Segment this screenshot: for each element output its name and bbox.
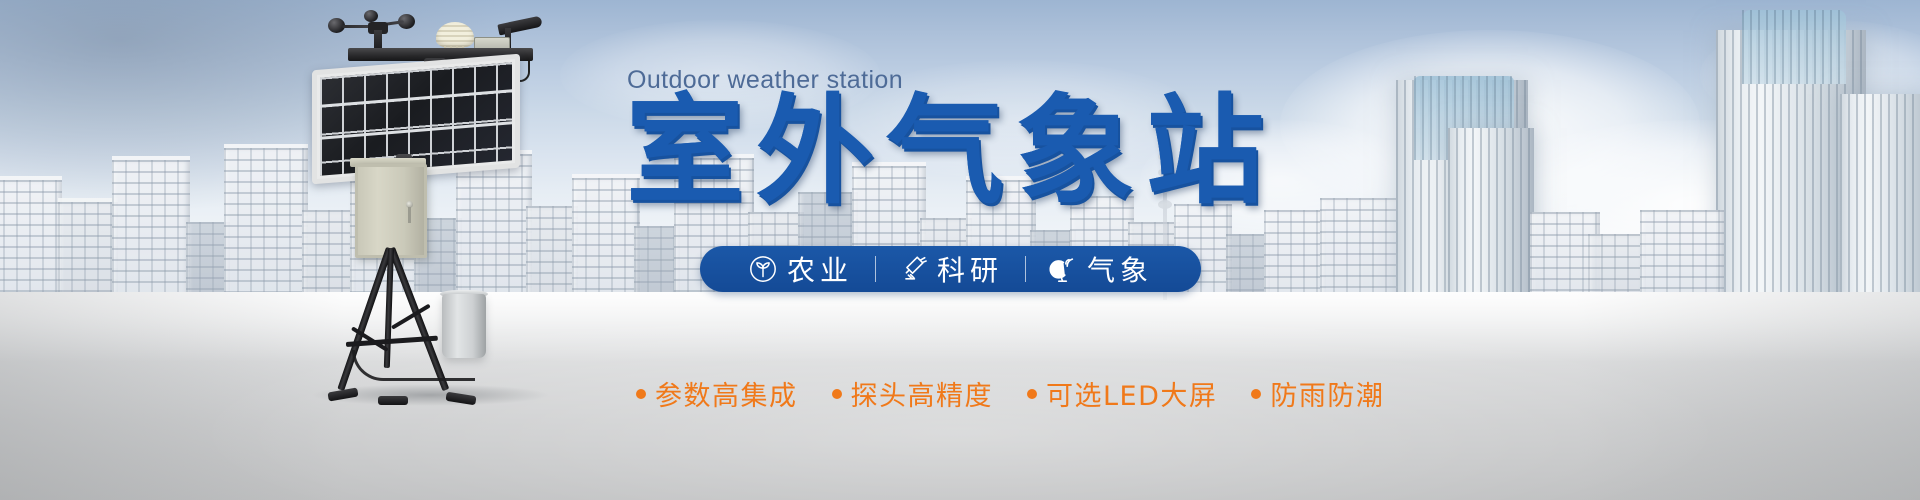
- feature-item: 参数高集成: [636, 374, 798, 413]
- feature-item: 可选LED大屏: [1027, 374, 1217, 413]
- banner-title: 室外气象站: [626, 92, 1276, 210]
- badge-meteorology-label: 气象: [1087, 249, 1153, 289]
- feature-item: 防雨防潮: [1251, 374, 1384, 413]
- feature-label: 探头高精度: [851, 374, 994, 413]
- badge-research[interactable]: 科研: [876, 249, 1025, 289]
- promo-banner: Outdoor weather station 室外气象站 农业: [0, 0, 1920, 500]
- badge-meteorology[interactable]: 气象: [1026, 249, 1175, 289]
- bullet-dot-icon: [1027, 389, 1037, 399]
- bullet-dot-icon: [832, 389, 842, 399]
- bullet-dot-icon: [1251, 389, 1261, 399]
- satellite-dish-icon: [1048, 254, 1078, 284]
- feature-label: 参数高集成: [655, 374, 798, 413]
- plant-leaf-icon: [748, 254, 778, 284]
- microscope-icon: [898, 254, 928, 284]
- feature-list: 参数高集成 探头高精度 可选LED大屏 防雨防潮: [636, 374, 1384, 413]
- feature-item: 探头高精度: [832, 374, 994, 413]
- badge-research-label: 科研: [937, 249, 1003, 289]
- banner-content: Outdoor weather station 室外气象站 农业: [0, 0, 1920, 500]
- badge-agriculture-label: 农业: [787, 249, 853, 289]
- category-badge-bar: 农业 科研: [700, 246, 1201, 292]
- badge-agriculture[interactable]: 农业: [726, 249, 875, 289]
- feature-label: 可选LED大屏: [1046, 374, 1217, 413]
- feature-label: 防雨防潮: [1270, 374, 1384, 413]
- bullet-dot-icon: [636, 389, 646, 399]
